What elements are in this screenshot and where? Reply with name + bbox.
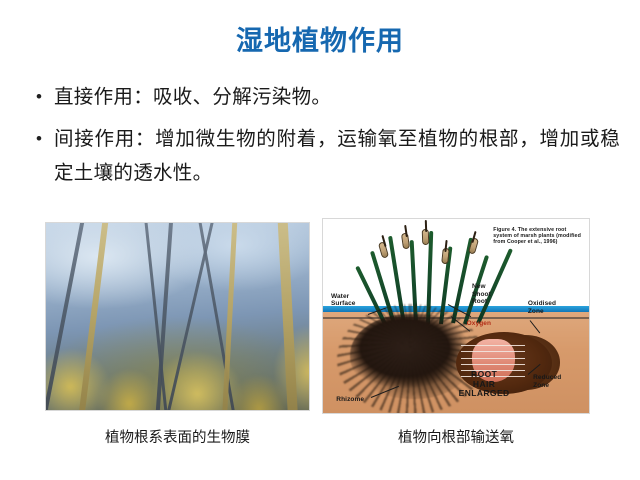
root-oxygen-diagram: Figure 4. The extensive root system of m…	[322, 218, 590, 414]
cattail-spike	[425, 220, 427, 232]
page-title: 湿地植物作用	[0, 24, 640, 58]
biofilm-photo	[45, 222, 310, 411]
diagram-root-mass	[350, 314, 472, 399]
bullet-text: 直接作用：吸收、分解污染物。	[54, 80, 620, 114]
left-figure-caption: 植物根系表面的生物膜	[45, 428, 310, 448]
figure-row: Figure 4. The extensive root system of m…	[0, 218, 640, 418]
diagram-figure-caption: Figure 4. The extensive root system of m…	[493, 227, 581, 246]
list-item: • 间接作用：增加微生物的附着，运输氧至植物的根部，增加或稳定土壤的透水性。	[30, 122, 620, 190]
right-figure-caption: 植物向根部输送氧	[322, 428, 590, 448]
bullet-list: • 直接作用：吸收、分解污染物。 • 间接作用：增加微生物的附着，运输氧至植物的…	[30, 80, 620, 198]
bullet-marker-icon: •	[30, 122, 54, 156]
label-root-hair-enlarged: ROOT HAIR ENLARGED	[459, 370, 510, 399]
list-item: • 直接作用：吸收、分解污染物。	[30, 80, 620, 114]
slide: 湿地植物作用 • 直接作用：吸收、分解污染物。 • 间接作用：增加微生物的附着，…	[0, 0, 640, 480]
bullet-marker-icon: •	[30, 80, 54, 114]
label-new-shoot-root: New Shoot Root	[472, 283, 491, 306]
label-water-surface: Water Surface	[331, 293, 356, 308]
label-reduced-zone: Reduced Zone	[533, 374, 561, 389]
label-oxidised-zone: Oxidised Zone	[528, 300, 556, 315]
label-rhizome: Rhizome	[336, 396, 364, 404]
bullet-text: 间接作用：增加微生物的附着，运输氧至植物的根部，增加或稳定土壤的透水性。	[54, 122, 620, 190]
label-oxygen: Oxygen	[467, 320, 491, 328]
